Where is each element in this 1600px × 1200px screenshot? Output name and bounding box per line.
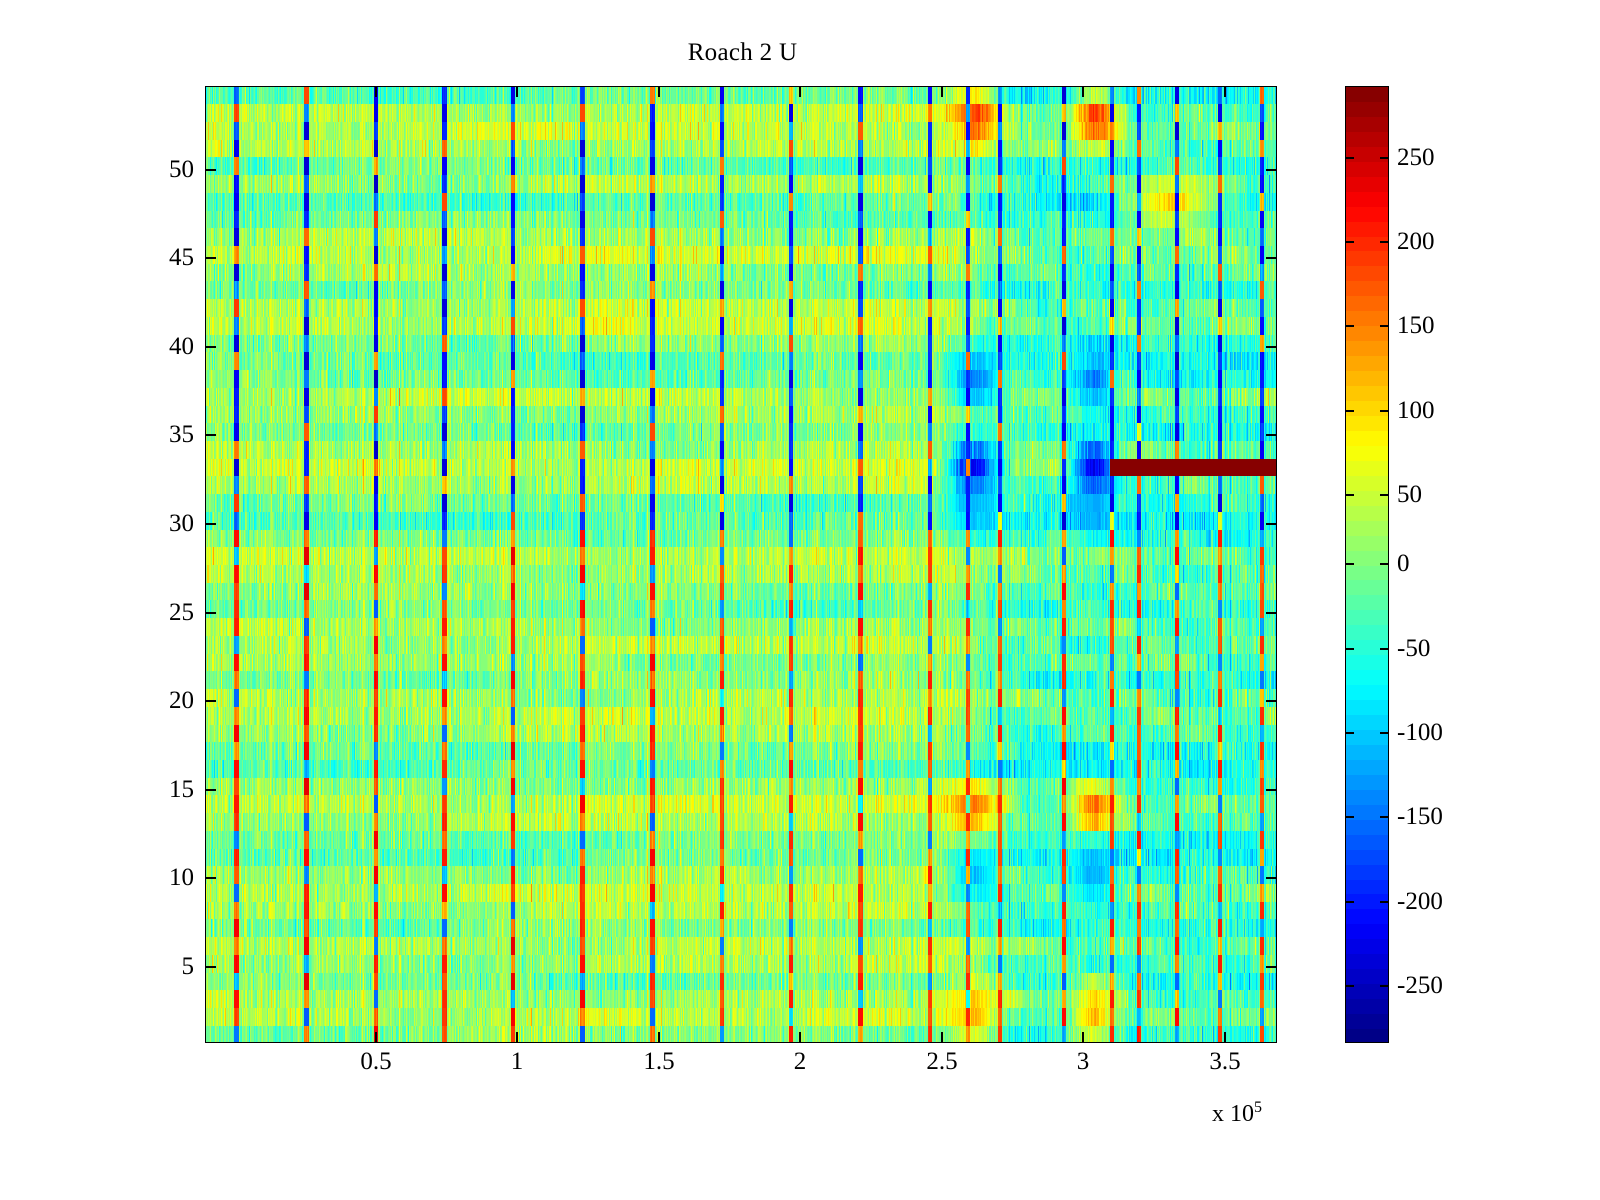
x-axis-exponent: x 105	[1212, 1101, 1262, 1128]
colorbar-tick-mark	[1345, 816, 1354, 818]
colorbar-tick-mark	[1345, 241, 1354, 243]
colorbar-tick-mark	[1345, 648, 1354, 650]
colorbar-tick-mark	[1345, 494, 1354, 496]
y-tick-mark-right	[1266, 523, 1277, 525]
y-tick-label: 45	[169, 244, 194, 272]
y-tick-mark-right	[1266, 700, 1277, 702]
colorbar-tick-label: -200	[1397, 888, 1443, 916]
y-tick-mark	[205, 257, 216, 259]
x-tick-label: 1	[511, 1048, 524, 1076]
x-tick-mark-top	[658, 86, 660, 97]
y-tick-mark-right	[1266, 434, 1277, 436]
colorbar-gradient	[1346, 87, 1389, 1043]
y-tick-mark-right	[1266, 877, 1277, 879]
x-tick-mark-top	[375, 86, 377, 97]
colorbar-tick-mark	[1345, 563, 1354, 565]
x-tick-label: 2	[794, 1048, 807, 1076]
colorbar-tick-mark	[1345, 901, 1354, 903]
x-tick-mark	[941, 1032, 943, 1043]
y-tick-label: 50	[169, 156, 194, 184]
y-tick-mark	[205, 346, 216, 348]
y-tick-mark	[205, 434, 216, 436]
y-tick-mark	[205, 966, 216, 968]
x-tick-mark-top	[799, 86, 801, 97]
x-tick-mark-top	[941, 86, 943, 97]
page-title: Roach 2 U	[0, 39, 1485, 67]
y-tick-label: 30	[169, 510, 194, 538]
colorbar-tick-mark-right	[1380, 410, 1389, 412]
colorbar-tick-label: 150	[1397, 312, 1435, 340]
colorbar-tick-label: -250	[1397, 972, 1443, 1000]
colorbar-tick-mark	[1345, 410, 1354, 412]
x-tick-mark	[799, 1032, 801, 1043]
y-tick-label: 20	[169, 687, 194, 715]
y-tick-label: 25	[169, 599, 194, 627]
colorbar-tick-label: 100	[1397, 397, 1435, 425]
colorbar-tick-label: 0	[1397, 550, 1410, 578]
colorbar-tick-mark	[1345, 157, 1354, 159]
colorbar-tick-mark-right	[1380, 985, 1389, 987]
colorbar-tick-label: -50	[1397, 635, 1430, 663]
colorbar-tick-mark-right	[1380, 816, 1389, 818]
x-tick-label: 1.5	[643, 1048, 674, 1076]
colorbar-tick-label: -100	[1397, 719, 1443, 747]
y-tick-label: 15	[169, 776, 194, 804]
y-tick-mark-right	[1266, 789, 1277, 791]
x-tick-mark-top	[516, 86, 518, 97]
y-tick-mark	[205, 789, 216, 791]
y-tick-mark	[205, 169, 216, 171]
colorbar-tick-mark-right	[1380, 157, 1389, 159]
y-tick-mark-right	[1266, 346, 1277, 348]
colorbar-tick-mark-right	[1380, 732, 1389, 734]
y-tick-mark-right	[1266, 257, 1277, 259]
y-tick-label: 5	[182, 953, 195, 981]
y-tick-mark	[205, 700, 216, 702]
colorbar-tick-mark-right	[1380, 648, 1389, 650]
colorbar-tick-mark-right	[1380, 494, 1389, 496]
matlab-figure: Roach 2 U 5101520253035404550 0.511.522.…	[0, 0, 1600, 1200]
colorbar-tick-label: 200	[1397, 228, 1435, 256]
y-tick-label: 35	[169, 421, 194, 449]
x-tick-mark	[1082, 1032, 1084, 1043]
y-tick-label: 40	[169, 333, 194, 361]
colorbar-tick-mark	[1345, 732, 1354, 734]
x-tick-label: 0.5	[360, 1048, 391, 1076]
x-tick-mark-top	[1224, 86, 1226, 97]
colorbar-tick-mark-right	[1380, 901, 1389, 903]
y-tick-label: 10	[169, 864, 194, 892]
x-tick-mark	[658, 1032, 660, 1043]
x-tick-label: 2.5	[926, 1048, 957, 1076]
colorbar-tick-mark-right	[1380, 241, 1389, 243]
colorbar-tick-mark-right	[1380, 563, 1389, 565]
colorbar-tick-label: 50	[1397, 481, 1422, 509]
x-axis-exponent-base: x 10	[1212, 1101, 1254, 1127]
colorbar-tick-label: -150	[1397, 803, 1443, 831]
y-tick-mark	[205, 877, 216, 879]
x-axis-exponent-power: 5	[1254, 1099, 1262, 1116]
x-tick-label: 3.5	[1209, 1048, 1240, 1076]
heatmap-image[interactable]	[206, 87, 1277, 1043]
x-tick-mark	[516, 1032, 518, 1043]
y-tick-mark-right	[1266, 612, 1277, 614]
x-tick-label: 3	[1077, 1048, 1090, 1076]
colorbar-tick-mark	[1345, 325, 1354, 327]
y-tick-mark	[205, 612, 216, 614]
colorbar-tick-label: 250	[1397, 144, 1435, 172]
x-tick-mark-top	[1082, 86, 1084, 97]
colorbar-tick-mark-right	[1380, 325, 1389, 327]
y-tick-mark	[205, 523, 216, 525]
heatmap-axes[interactable]	[205, 86, 1277, 1043]
y-tick-mark-right	[1266, 966, 1277, 968]
x-tick-mark	[1224, 1032, 1226, 1043]
y-tick-mark-right	[1266, 169, 1277, 171]
x-tick-mark	[375, 1032, 377, 1043]
colorbar-tick-mark	[1345, 985, 1354, 987]
